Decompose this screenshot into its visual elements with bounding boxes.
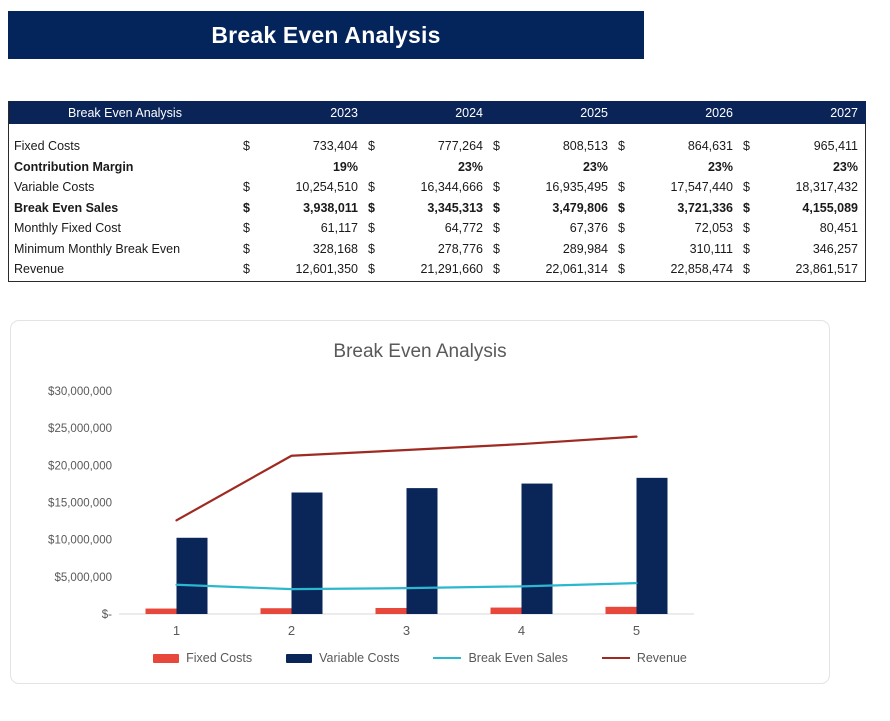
y-axis-tick-label: $30,000,000 bbox=[48, 386, 112, 398]
table-cell-value: 16,935,495 bbox=[511, 177, 616, 198]
currency-symbol: $ bbox=[241, 198, 261, 219]
chart-plot-area: $-$5,000,000$10,000,000$15,000,000$20,00… bbox=[11, 321, 831, 685]
column-header-2023: 2023 bbox=[241, 101, 366, 124]
table-row: Contribution Margin19%23%23%23%23% bbox=[9, 157, 866, 178]
column-header-2026: 2026 bbox=[616, 101, 741, 124]
legend-bar-swatch-icon bbox=[286, 654, 312, 663]
x-axis-tick-label: 5 bbox=[633, 623, 640, 638]
legend-label: Fixed Costs bbox=[186, 651, 252, 665]
legend-line-swatch-icon bbox=[602, 657, 630, 660]
page-title: Break Even Analysis bbox=[211, 22, 440, 49]
column-header-2025: 2025 bbox=[491, 101, 616, 124]
table-cell-value: 289,984 bbox=[511, 239, 616, 260]
legend-label: Break Even Sales bbox=[468, 651, 567, 665]
row-label: Variable Costs bbox=[9, 177, 241, 198]
legend-label: Variable Costs bbox=[319, 651, 399, 665]
y-axis-tick-label: $10,000,000 bbox=[48, 535, 112, 547]
page-title-banner: Break Even Analysis bbox=[8, 11, 644, 59]
table-cell-value: 17,547,440 bbox=[636, 177, 741, 198]
chart-bar bbox=[491, 608, 522, 614]
break-even-analysis-page: Break Even Analysis Break Even Analysis … bbox=[0, 0, 890, 721]
currency-symbol: $ bbox=[366, 177, 386, 198]
currency-symbol: $ bbox=[366, 218, 386, 239]
y-axis-tick-label: $- bbox=[102, 609, 112, 621]
currency-symbol: $ bbox=[366, 259, 386, 281]
table-cell-value: 310,111 bbox=[636, 239, 741, 260]
table-cell-value: 18,317,432 bbox=[761, 177, 866, 198]
y-axis-tick-label: $15,000,000 bbox=[48, 498, 112, 510]
chart-bar bbox=[522, 484, 553, 614]
chart-bar bbox=[177, 538, 208, 614]
table-cell-value: 10,254,510 bbox=[261, 177, 366, 198]
table-cell-value: 864,631 bbox=[636, 136, 741, 157]
currency-symbol bbox=[366, 157, 386, 178]
table-cell-value: 80,451 bbox=[761, 218, 866, 239]
currency-symbol: $ bbox=[366, 198, 386, 219]
table-row: Minimum Monthly Break Even$328,168$278,7… bbox=[9, 239, 866, 260]
currency-symbol: $ bbox=[616, 218, 636, 239]
table-cell-value: 3,345,313 bbox=[386, 198, 491, 219]
x-axis-tick-label: 4 bbox=[518, 623, 525, 638]
table-cell-value: 3,721,336 bbox=[636, 198, 741, 219]
table-cell-value: 23% bbox=[511, 157, 616, 178]
legend-item[interactable]: Fixed Costs bbox=[153, 651, 252, 665]
table-spacer-cell bbox=[9, 124, 866, 136]
currency-symbol: $ bbox=[491, 198, 511, 219]
table-cell-value: 278,776 bbox=[386, 239, 491, 260]
table-cell-value: 61,117 bbox=[261, 218, 366, 239]
currency-symbol: $ bbox=[741, 239, 761, 260]
table-row: Fixed Costs$733,404$777,264$808,513$864,… bbox=[9, 136, 866, 157]
table-cell-value: 23% bbox=[636, 157, 741, 178]
currency-symbol: $ bbox=[616, 239, 636, 260]
table-cell-value: 22,858,474 bbox=[636, 259, 741, 281]
column-header-2027: 2027 bbox=[741, 101, 866, 124]
table-cell-value: 3,938,011 bbox=[261, 198, 366, 219]
currency-symbol: $ bbox=[241, 218, 261, 239]
chart-bar bbox=[292, 493, 323, 614]
column-header-label: Break Even Analysis bbox=[9, 101, 241, 124]
table-cell-value: 777,264 bbox=[386, 136, 491, 157]
table-spacer-row bbox=[9, 124, 866, 136]
chart-bar bbox=[606, 607, 637, 614]
table-row: Revenue$12,601,350$21,291,660$22,061,314… bbox=[9, 259, 866, 281]
y-axis-tick-label: $20,000,000 bbox=[48, 460, 112, 472]
currency-symbol bbox=[241, 157, 261, 178]
currency-symbol bbox=[616, 157, 636, 178]
table-header: Break Even Analysis 2023 2024 2025 2026 … bbox=[9, 101, 866, 124]
table-row: Monthly Fixed Cost$61,117$64,772$67,376$… bbox=[9, 218, 866, 239]
break-even-table: Break Even Analysis 2023 2024 2025 2026 … bbox=[9, 101, 866, 281]
currency-symbol: $ bbox=[366, 136, 386, 157]
currency-symbol: $ bbox=[741, 198, 761, 219]
table-cell-value: 12,601,350 bbox=[261, 259, 366, 281]
table-cell-value: 808,513 bbox=[511, 136, 616, 157]
currency-symbol: $ bbox=[491, 218, 511, 239]
chart-bar bbox=[637, 478, 668, 614]
chart-bar bbox=[146, 609, 177, 614]
table-cell-value: 23,861,517 bbox=[761, 259, 866, 281]
currency-symbol: $ bbox=[241, 136, 261, 157]
table-cell-value: 19% bbox=[261, 157, 366, 178]
table-row: Break Even Sales$3,938,011$3,345,313$3,4… bbox=[9, 198, 866, 219]
table-cell-value: 346,257 bbox=[761, 239, 866, 260]
currency-symbol: $ bbox=[741, 177, 761, 198]
chart-bar bbox=[376, 608, 407, 614]
chart-bar bbox=[261, 608, 292, 614]
table-header-row: Break Even Analysis 2023 2024 2025 2026 … bbox=[9, 101, 866, 124]
table-cell-value: 733,404 bbox=[261, 136, 366, 157]
currency-symbol: $ bbox=[241, 177, 261, 198]
currency-symbol bbox=[741, 157, 761, 178]
x-axis-tick-label: 2 bbox=[288, 623, 295, 638]
row-label: Monthly Fixed Cost bbox=[9, 218, 241, 239]
currency-symbol bbox=[491, 157, 511, 178]
table-cell-value: 22,061,314 bbox=[511, 259, 616, 281]
row-label: Minimum Monthly Break Even bbox=[9, 239, 241, 260]
legend-line-swatch-icon bbox=[433, 657, 461, 660]
row-label: Break Even Sales bbox=[9, 198, 241, 219]
row-label: Revenue bbox=[9, 259, 241, 281]
currency-symbol: $ bbox=[741, 136, 761, 157]
column-header-2024: 2024 bbox=[366, 101, 491, 124]
currency-symbol: $ bbox=[616, 259, 636, 281]
currency-symbol: $ bbox=[491, 177, 511, 198]
legend-item[interactable]: Revenue bbox=[602, 651, 687, 665]
currency-symbol: $ bbox=[491, 259, 511, 281]
table-cell-value: 16,344,666 bbox=[386, 177, 491, 198]
chart-bar bbox=[407, 488, 438, 614]
y-axis-tick-label: $5,000,000 bbox=[54, 572, 112, 584]
currency-symbol: $ bbox=[241, 259, 261, 281]
x-axis-tick-label: 3 bbox=[403, 623, 410, 638]
break-even-table-container: Break Even Analysis 2023 2024 2025 2026 … bbox=[8, 101, 866, 282]
x-axis-tick-label: 1 bbox=[173, 623, 180, 638]
currency-symbol: $ bbox=[741, 218, 761, 239]
table-cell-value: 64,772 bbox=[386, 218, 491, 239]
y-axis-tick-label: $25,000,000 bbox=[48, 423, 112, 435]
currency-symbol: $ bbox=[616, 177, 636, 198]
table-cell-value: 23% bbox=[386, 157, 491, 178]
table-cell-value: 328,168 bbox=[261, 239, 366, 260]
table-cell-value: 4,155,089 bbox=[761, 198, 866, 219]
table-cell-value: 3,479,806 bbox=[511, 198, 616, 219]
row-label: Contribution Margin bbox=[9, 157, 241, 178]
table-cell-value: 23% bbox=[761, 157, 866, 178]
legend-item[interactable]: Break Even Sales bbox=[433, 651, 567, 665]
table-body: Fixed Costs$733,404$777,264$808,513$864,… bbox=[9, 124, 866, 281]
table-cell-value: 72,053 bbox=[636, 218, 741, 239]
legend-label: Revenue bbox=[637, 651, 687, 665]
currency-symbol: $ bbox=[241, 239, 261, 260]
chart-card: Break Even Analysis $-$5,000,000$10,000,… bbox=[10, 320, 830, 684]
currency-symbol: $ bbox=[616, 198, 636, 219]
table-cell-value: 965,411 bbox=[761, 136, 866, 157]
currency-symbol: $ bbox=[741, 259, 761, 281]
currency-symbol: $ bbox=[616, 136, 636, 157]
currency-symbol: $ bbox=[491, 136, 511, 157]
legend-item[interactable]: Variable Costs bbox=[286, 651, 399, 665]
table-row: Variable Costs$10,254,510$16,344,666$16,… bbox=[9, 177, 866, 198]
currency-symbol: $ bbox=[491, 239, 511, 260]
currency-symbol: $ bbox=[366, 239, 386, 260]
table-cell-value: 67,376 bbox=[511, 218, 616, 239]
chart-legend: Fixed CostsVariable CostsBreak Even Sale… bbox=[11, 651, 829, 665]
legend-bar-swatch-icon bbox=[153, 654, 179, 663]
row-label: Fixed Costs bbox=[9, 136, 241, 157]
table-cell-value: 21,291,660 bbox=[386, 259, 491, 281]
